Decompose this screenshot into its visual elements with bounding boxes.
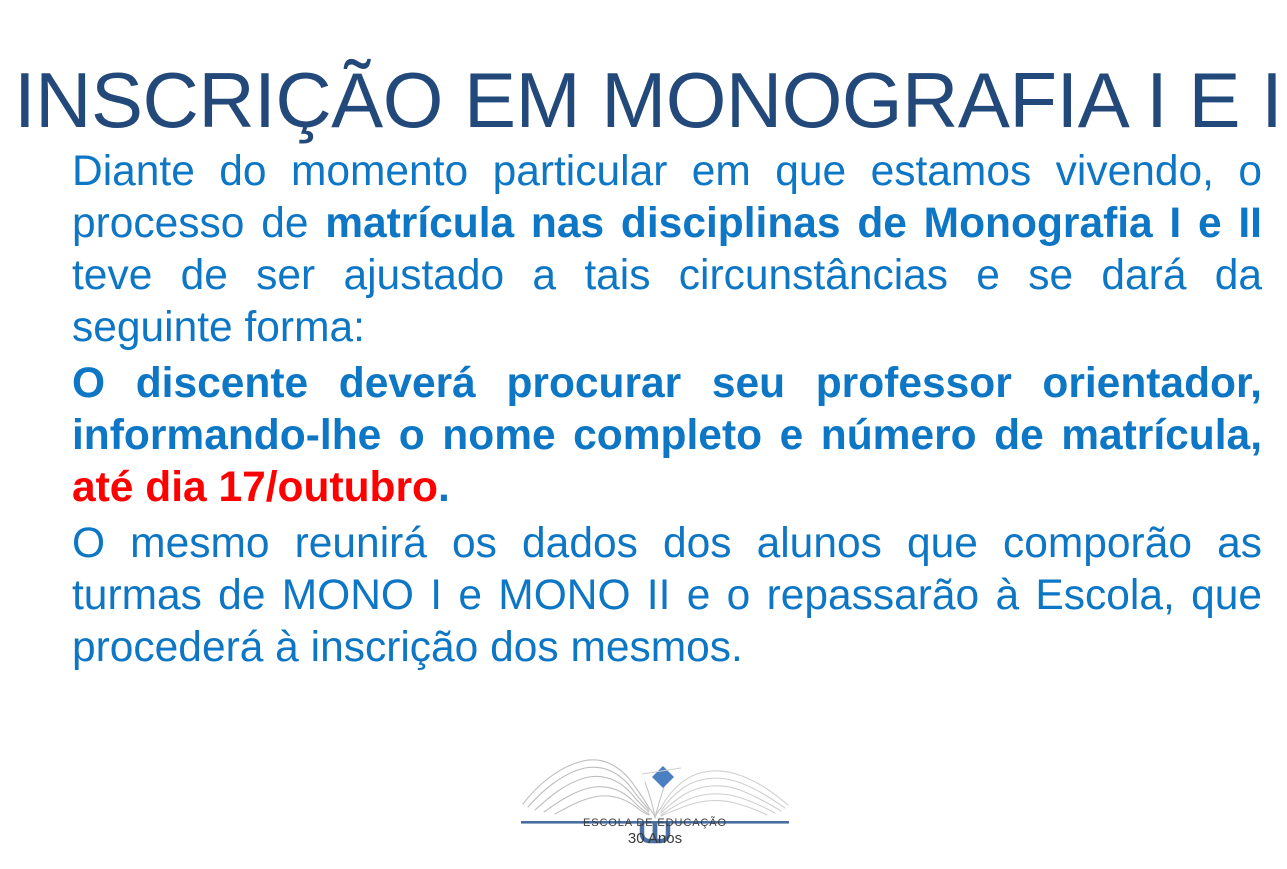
paragraph-3-run-1: O mesmo reunirá os dados dos alunos que … (72, 520, 1262, 671)
paragraph-1: Diante do momento particular em que esta… (72, 146, 1262, 354)
paragraph-2-deadline-highlight: até dia 17/outubro (72, 464, 438, 511)
page-title: INSCRIÇÃO EM MONOGRAFIA I E II (14, 58, 1272, 142)
paragraph-2-run-1-bold: O discente deverá procurar seu professor… (72, 360, 1262, 459)
paragraph-1-run-2-bold: matrícula nas disciplinas de Monografia … (325, 200, 1262, 247)
open-book-icon (505, 748, 805, 864)
escola-de-educacao-logo: ESCOLA DE EDUCAÇÃO 30 Anos (505, 748, 805, 864)
slide-canvas: INSCRIÇÃO EM MONOGRAFIA I E II Diante do… (0, 0, 1287, 869)
slide-body: Diante do momento particular em que esta… (72, 146, 1262, 674)
paragraph-1-run-3: teve de ser ajustado a tais circunstânci… (72, 252, 1262, 351)
paragraph-2: O discente deverá procurar seu professor… (72, 358, 1262, 514)
paragraph-2-run-3-bold: . (438, 464, 450, 511)
paragraph-3: O mesmo reunirá os dados dos alunos que … (72, 518, 1262, 674)
